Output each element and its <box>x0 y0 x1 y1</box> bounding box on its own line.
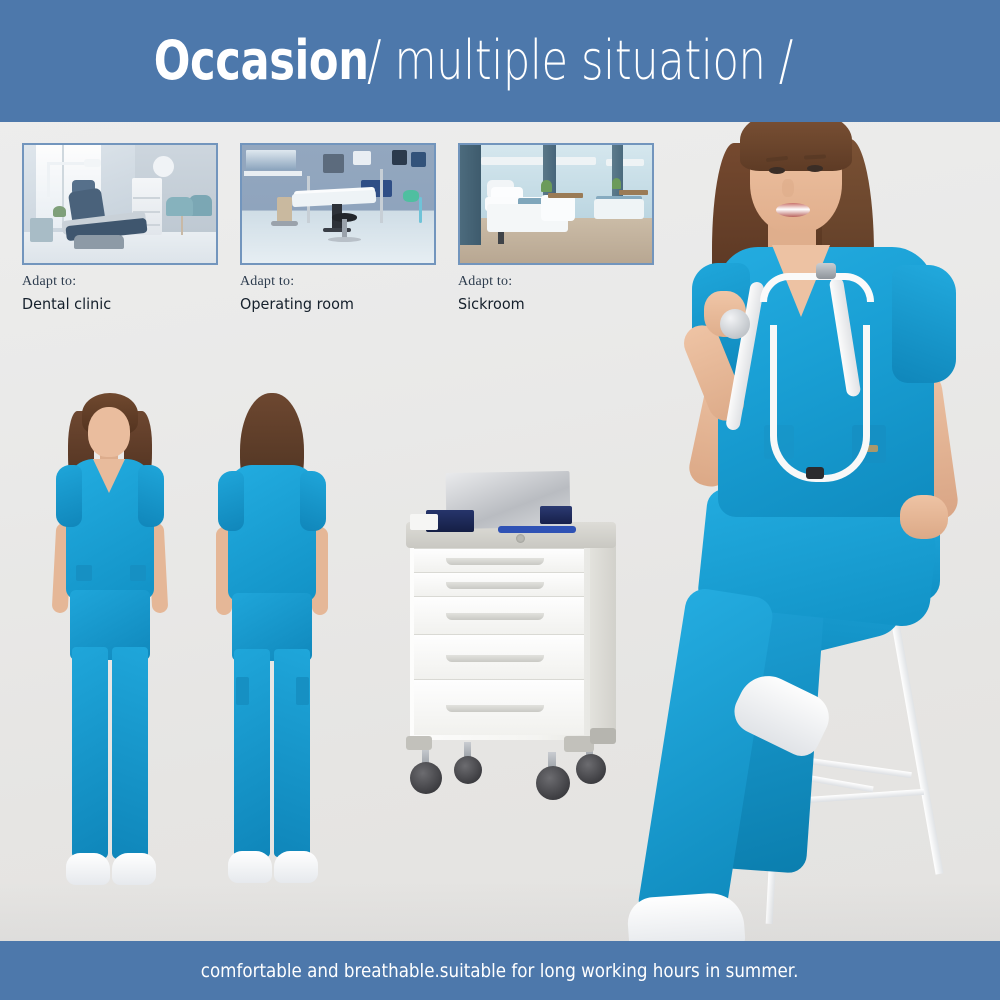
stethoscope-metal-joint <box>816 263 836 279</box>
scrub-sleeve-left <box>218 471 244 531</box>
cart-caster-wheel <box>410 762 442 794</box>
stethoscope-clip <box>806 467 824 479</box>
scrub-pocket-left <box>76 565 92 581</box>
dental-clinic-scene <box>24 145 216 263</box>
title-light-phrase: / multiple situation / <box>367 34 793 88</box>
model-hand-right <box>900 495 948 539</box>
wall-light-icon <box>153 156 174 177</box>
dental-clinic-thumbnail[interactable] <box>22 143 218 265</box>
surgeon-stool-column <box>342 219 347 238</box>
scrub-sleeve-right <box>300 471 326 531</box>
potted-plant-icon <box>541 180 553 192</box>
occasion-card-dental-clinic[interactable]: Adapt to: Dental clinic <box>22 143 218 313</box>
adapt-to-label: Adapt to: <box>458 274 654 290</box>
breathing-tube <box>419 197 423 223</box>
potted-plant-icon <box>53 206 66 217</box>
overbed-table-far <box>619 190 648 195</box>
cart-drawer <box>414 548 584 573</box>
occasion-card-operating-room[interactable]: Adapt to: Operating room <box>240 143 436 313</box>
cart-drawer <box>414 596 584 635</box>
model-head <box>88 407 130 457</box>
vital-monitor-4 <box>411 152 426 167</box>
operating-room-thumbnail[interactable] <box>240 143 436 265</box>
sickroom-thumbnail[interactable] <box>458 143 654 265</box>
oxygen-bag-icon <box>403 190 418 202</box>
vital-monitor-2 <box>353 151 370 165</box>
header-banner: Occasion / multiple situation / <box>0 0 1000 122</box>
cart-drawer <box>414 572 584 597</box>
potted-plant-icon <box>612 178 622 189</box>
scrub-pants-leg-right <box>112 647 148 859</box>
drawer-handle <box>446 613 544 620</box>
back-view-model <box>200 385 350 915</box>
sneaker-right <box>274 851 318 883</box>
occasion-name: Sickroom <box>458 295 640 313</box>
eye-left <box>769 167 785 174</box>
adapt-to-label: Adapt to: <box>22 274 218 290</box>
cart-caster-wheel <box>454 756 482 784</box>
cart-lock-icon <box>516 534 525 543</box>
drawer-handle <box>446 655 544 662</box>
stool-leg <box>181 216 183 235</box>
dental-lamp-head <box>84 159 101 167</box>
medical-supply-cart <box>398 470 623 820</box>
wall-headboard-rail <box>481 157 596 165</box>
dental-lamp-arm-vertical <box>47 162 50 197</box>
eye-right <box>807 165 823 172</box>
scrub-sleeve-right <box>892 265 956 383</box>
drawer-handle <box>446 705 544 712</box>
drawer-handle <box>446 558 544 565</box>
stethoscope-chestpiece-icon <box>720 309 750 339</box>
surgeon-stool-base <box>328 237 361 242</box>
hospital-bed-siderail <box>541 195 576 221</box>
utility-cart <box>277 197 292 223</box>
cart-drawer <box>414 679 584 735</box>
cabinet-drawer-line <box>133 197 160 199</box>
vital-monitor-1 <box>323 154 344 173</box>
dentist-stool-near <box>166 197 193 216</box>
cargo-pocket-left <box>236 677 249 705</box>
wall-display-panel <box>246 150 296 170</box>
vital-monitor-3 <box>392 150 407 165</box>
cart-bumper-left <box>406 736 432 750</box>
occasion-name: Dental clinic <box>22 295 204 313</box>
occasion-thumbnail-strip: Adapt to: Dental clinic <box>22 143 654 313</box>
smile-mouth <box>776 203 810 217</box>
supply-box-blue-right <box>540 506 572 524</box>
scrub-sleeve-left <box>56 465 82 527</box>
occasion-name: Operating room <box>240 295 422 313</box>
utility-cart-base <box>271 221 298 227</box>
supply-box-white <box>410 514 438 530</box>
dental-chair-base <box>74 235 124 249</box>
footer-caption: comfortable and breathable.suitable for … <box>201 960 799 982</box>
dental-lamp-arm-horizontal <box>47 162 89 165</box>
nose <box>782 179 794 197</box>
operating-room-scene <box>242 145 434 263</box>
stethoscope-loop <box>770 325 870 482</box>
occasion-card-sickroom[interactable]: Adapt to: Sickroom <box>458 143 654 313</box>
cart-caster-wheel <box>536 766 570 800</box>
scrub-pocket-right <box>130 565 146 581</box>
hospital-bed-far <box>594 199 644 219</box>
iv-pole-right <box>380 169 383 223</box>
scrub-sleeve-right <box>138 465 164 527</box>
wall-shelf <box>244 171 302 176</box>
product-marketing-image: Occasion / multiple situation / <box>0 0 1000 1000</box>
page-title: Occasion / multiple situation / <box>0 0 1000 122</box>
title-bold-word: Occasion <box>154 34 369 88</box>
sneaker-left <box>228 851 272 883</box>
footer-banner: comfortable and breathable.suitable for … <box>0 941 1000 1000</box>
side-unit <box>30 218 53 242</box>
drawer-handle <box>446 582 544 589</box>
operating-table-base <box>323 228 352 233</box>
cargo-pocket-right <box>296 677 309 705</box>
supply-tray-blue <box>498 526 576 533</box>
seated-hero-model <box>600 95 1000 940</box>
overbed-table <box>548 193 583 198</box>
scrub-pants-leg-left <box>72 647 108 859</box>
adapt-to-label: Adapt to: <box>240 274 436 290</box>
cart-drawer <box>414 634 584 680</box>
privacy-curtain-left <box>460 145 481 245</box>
front-view-model <box>38 385 188 915</box>
sickroom-scene <box>460 145 652 263</box>
hospital-bed-leg <box>498 232 504 244</box>
